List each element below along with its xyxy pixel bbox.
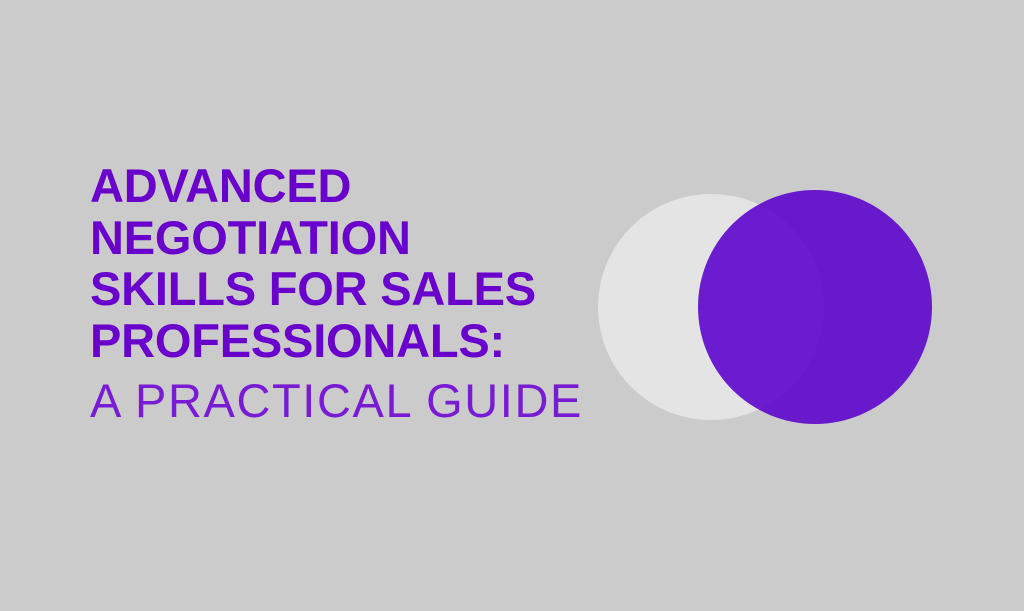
title-text-block: Advanced Negotiation Skills for Sales Pr… — [90, 160, 630, 427]
title-line-2: Negotiation — [90, 212, 630, 264]
title-slide: Advanced Negotiation Skills for Sales Pr… — [0, 0, 1024, 611]
page-subtitle: A Practical Guide — [90, 375, 630, 427]
title-line-3: Skills for Sales — [90, 263, 630, 315]
title-line-1: Advanced — [90, 160, 630, 212]
title-line-4: Professionals: — [90, 315, 630, 367]
purple-circle-shape — [698, 190, 932, 424]
venn-diagram-graphic — [590, 178, 946, 436]
page-title: Advanced Negotiation Skills for Sales Pr… — [90, 160, 630, 366]
